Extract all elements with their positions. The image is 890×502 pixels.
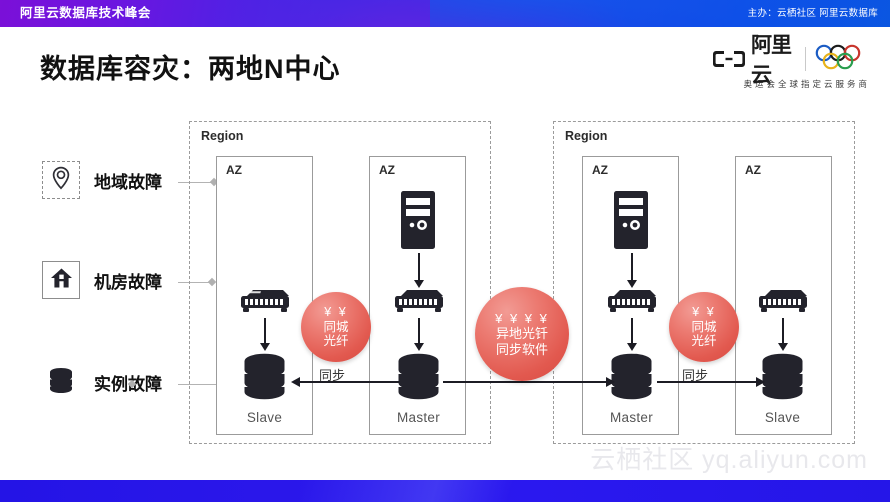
legend-label: 地域故障 xyxy=(94,168,162,193)
cost-bubble-right-region: ¥ ¥ 同城 光纤 xyxy=(669,292,739,362)
bubble-cost: ¥ ¥ ¥ ¥ xyxy=(495,311,549,326)
database-node-master-left: Master xyxy=(394,353,443,425)
az-label: AZ xyxy=(379,163,395,177)
bottom-bar-streak xyxy=(300,480,600,502)
bubble-line2: 同步软件 xyxy=(496,342,548,357)
az-label: AZ xyxy=(592,163,608,177)
switch-node-left-az2 xyxy=(393,288,445,319)
region-label: Region xyxy=(201,129,243,143)
event-organizer-text: 主办：云栖社区 阿里云数据库 xyxy=(748,0,878,27)
cost-bubble-cross-region: ¥ ¥ ¥ ¥ 异地光钎 同步软件 xyxy=(475,287,569,381)
node-caption: Master xyxy=(397,410,440,425)
bottom-bar xyxy=(0,480,890,502)
switch-node-right-az2 xyxy=(757,288,809,319)
az-label: AZ xyxy=(226,163,242,177)
arrow-switch-to-db-right-az2 xyxy=(782,318,784,344)
legend-icon-frame xyxy=(42,363,80,401)
sync-label-right-region: 同步 xyxy=(682,365,708,384)
event-brand-title: 阿里云数据库技术峰会 xyxy=(20,0,151,27)
database-icon xyxy=(47,367,75,398)
switch-node-right-az1 xyxy=(606,288,658,319)
legend-item-idc-failure: 机房故障 xyxy=(42,261,162,299)
logo-divider xyxy=(805,47,806,71)
region-label: Region xyxy=(565,129,607,143)
bubble-cost: ¥ ¥ xyxy=(692,305,715,320)
node-caption: Master xyxy=(610,410,653,425)
location-pin-icon xyxy=(50,166,72,195)
olympic-rings-icon xyxy=(814,44,872,75)
server-node-right-az1 xyxy=(612,190,650,255)
node-caption: Slave xyxy=(247,410,282,425)
legend-item-region-failure: 地域故障 xyxy=(42,161,162,199)
watermark: 云栖社区 yq.aliyun.com xyxy=(590,440,868,476)
server-tower-icon xyxy=(399,190,437,255)
database-icon xyxy=(394,353,443,405)
database-node-slave-left: Slave xyxy=(240,353,289,425)
switch-icon xyxy=(239,288,291,319)
aliyun-logo-icon xyxy=(712,49,746,69)
switch-node-left-az1 xyxy=(239,288,291,319)
database-icon xyxy=(758,353,807,405)
arrow-server-to-switch-left-az2 xyxy=(418,253,420,281)
switch-icon xyxy=(393,288,445,319)
legend-item-instance-failure: 实例故障 xyxy=(42,363,162,401)
database-icon xyxy=(240,353,289,405)
arrow-switch-to-db-left-az1 xyxy=(264,318,266,344)
server-tower-icon xyxy=(612,190,650,255)
page-title: 数据库容灾：两地N中心 xyxy=(40,47,341,86)
sync-arrow-left-region xyxy=(299,381,399,383)
cross-region-arrow xyxy=(443,381,607,383)
switch-icon xyxy=(606,288,658,319)
arrow-server-to-switch-right-az1 xyxy=(631,253,633,281)
legend-label: 机房故障 xyxy=(94,268,162,293)
node-caption: Slave xyxy=(765,410,800,425)
arrow-switch-to-db-right-az1 xyxy=(631,318,633,344)
aliyun-logo: 阿里云 奥运会全球指定云服务商 xyxy=(712,40,872,98)
bubble-line1: 同城 xyxy=(323,320,348,335)
cost-bubble-left-region: ¥ ¥ 同城 光纤 xyxy=(301,292,371,362)
bubble-line1: 异地光钎 xyxy=(496,326,548,341)
legend-icon-frame xyxy=(42,161,80,199)
arrow-switch-to-db-left-az2 xyxy=(418,318,420,344)
home-icon xyxy=(50,267,73,294)
switch-icon xyxy=(757,288,809,319)
top-header-bar: 阿里云数据库技术峰会 主办：云栖社区 阿里云数据库 xyxy=(0,0,890,27)
legend-icon-frame xyxy=(42,261,80,299)
bubble-cost: ¥ ¥ xyxy=(324,305,347,320)
database-node-slave-right: Slave xyxy=(758,353,807,425)
bubble-line2: 光纤 xyxy=(691,334,716,349)
sync-label-left-region: 同步 xyxy=(319,365,345,384)
az-label: AZ xyxy=(745,163,761,177)
server-node-left-az2 xyxy=(399,190,437,255)
aliyun-logo-subtitle: 奥运会全球指定云服务商 xyxy=(712,78,872,90)
database-node-master-right: Master xyxy=(607,353,656,425)
bubble-line1: 同城 xyxy=(691,320,716,335)
bubble-line2: 光纤 xyxy=(323,334,348,349)
